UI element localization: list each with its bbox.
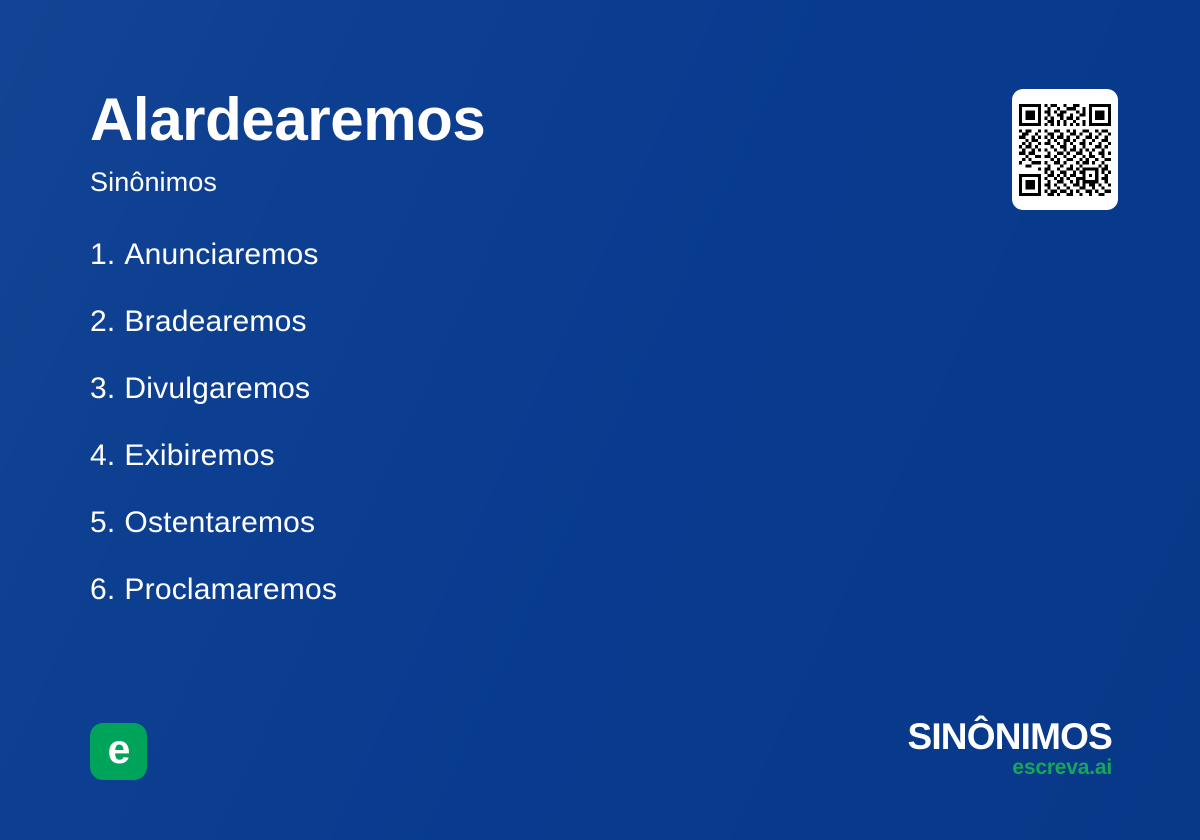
list-item-word: Ostentaremos [124,506,315,540]
list-item-index: 2. [90,305,115,339]
list-item: 4. Exibiremos [90,439,790,506]
list-item: 1. Anunciaremos [90,238,790,305]
list-item: 2. Bradearemos [90,305,790,372]
list-item-word: Divulgaremos [124,372,310,406]
synonym-card: Alardearemos Sinônimos 1. Anunciaremos 2… [0,0,1200,840]
list-item-index: 6. [90,573,115,607]
list-item-word: Bradearemos [124,305,306,339]
footer-logo-domain: escreva.ai [907,757,1112,778]
sinonimos-footer-logo[interactable]: SINÔNIMOS escreva.ai [907,718,1112,778]
escreva-logo-badge[interactable]: e [90,723,147,780]
brand-badge-letter: e [108,729,130,770]
footer-logo-title: SINÔNIMOS [907,718,1112,755]
page-title: Alardearemos [90,88,485,151]
qr-code-icon [1019,104,1111,196]
list-item-index: 1. [90,238,115,272]
list-item-index: 3. [90,372,115,406]
page-subtitle: Sinônimos [90,167,217,198]
list-item-word: Proclamaremos [124,573,337,607]
qr-code-container[interactable] [1012,89,1118,210]
list-item: 5. Ostentaremos [90,506,790,573]
list-item: 6. Proclamaremos [90,573,790,640]
synonym-list: 1. Anunciaremos 2. Bradearemos 3. Divulg… [90,238,790,640]
list-item-index: 5. [90,506,115,540]
card-content: Alardearemos Sinônimos 1. Anunciaremos 2… [0,0,1200,840]
list-item-word: Anunciaremos [124,238,318,272]
list-item-index: 4. [90,439,115,473]
list-item: 3. Divulgaremos [90,372,790,439]
list-item-word: Exibiremos [124,439,274,473]
